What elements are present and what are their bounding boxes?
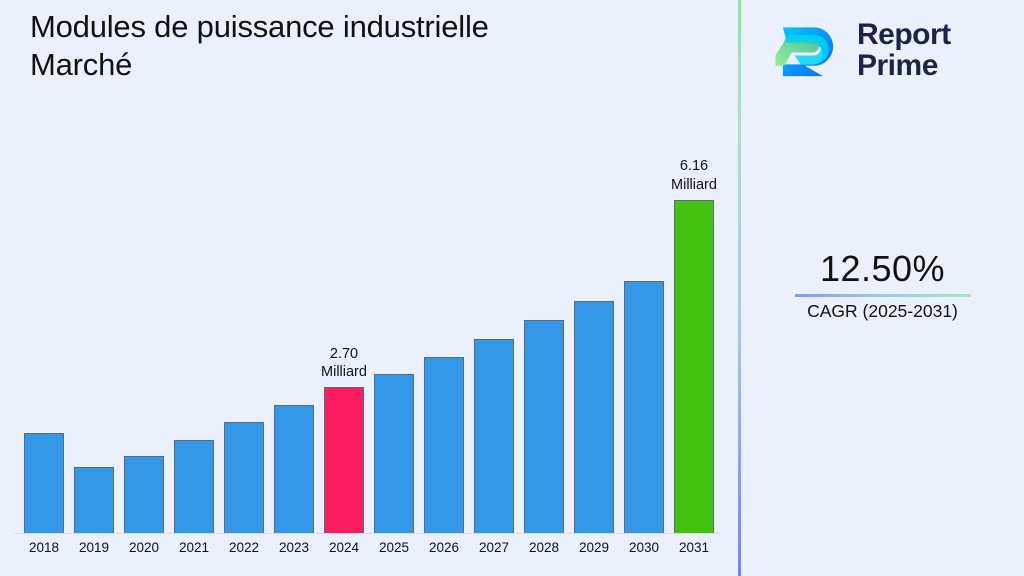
x-tick-2031: 2031 [669, 540, 719, 555]
brand-name: Report Prime [857, 20, 951, 82]
bar-2029[interactable] [574, 301, 614, 533]
report-prime-mark-icon [771, 14, 845, 88]
x-tick-2027: 2027 [469, 540, 519, 555]
plot-area: 2.70Milliard6.16Milliard [14, 120, 724, 533]
x-tick-2025: 2025 [369, 540, 419, 555]
bar-2028[interactable] [524, 320, 564, 533]
cagr-divider [795, 294, 971, 297]
x-tick-2024: 2024 [319, 540, 369, 555]
bar-slot [169, 120, 219, 533]
bar-slot [419, 120, 469, 533]
bar-2030[interactable] [624, 281, 664, 533]
bar-2025[interactable] [374, 374, 414, 533]
bar-slot [219, 120, 269, 533]
x-tick-2023: 2023 [269, 540, 319, 555]
cagr-caption: CAGR (2025-2031) [741, 301, 1024, 322]
bar-slot: 2.70Milliard [319, 120, 369, 533]
x-tick-2030: 2030 [619, 540, 669, 555]
bar-slot [69, 120, 119, 533]
bar-value-unit: Milliard [639, 176, 749, 194]
cagr-block: 12.50% CAGR (2025-2031) [741, 250, 1024, 322]
x-tick-2020: 2020 [119, 540, 169, 555]
x-tick-2028: 2028 [519, 540, 569, 555]
x-tick-2022: 2022 [219, 540, 269, 555]
bar-slot [269, 120, 319, 533]
x-axis-line [14, 533, 720, 534]
bar-value-label-2031: 6.16Milliard [639, 157, 749, 193]
bar-2020[interactable] [124, 456, 164, 533]
bar-2023[interactable] [274, 405, 314, 533]
x-tick-2029: 2029 [569, 540, 619, 555]
bar-2027[interactable] [474, 339, 514, 533]
bar-slot [519, 120, 569, 533]
brand-logo[interactable]: Report Prime [771, 14, 951, 88]
x-tick-2018: 2018 [19, 540, 69, 555]
bar-2026[interactable] [424, 357, 464, 533]
bar-value-number: 6.16 [639, 157, 749, 175]
brand-name-line1: Report [857, 18, 951, 51]
x-tick-2019: 2019 [69, 540, 119, 555]
x-tick-2026: 2026 [419, 540, 469, 555]
bar-2021[interactable] [174, 440, 214, 533]
bar-slot [469, 120, 519, 533]
bar-2031[interactable] [674, 200, 714, 533]
bar-slot [19, 120, 69, 533]
chart-panel: Modules de puissance industrielle Marché… [0, 0, 738, 576]
bar-2019[interactable] [74, 467, 114, 533]
x-tick-2021: 2021 [169, 540, 219, 555]
brand-name-line2: Prime [857, 49, 938, 82]
bar-slot: 6.16Milliard [669, 120, 719, 533]
summary-panel: Report Prime 12.50% CAGR (2025-2031) [741, 0, 1024, 576]
bar-slot [369, 120, 419, 533]
bar-slot [119, 120, 169, 533]
bar-chart: 2.70Milliard6.16Milliard 201820192020202… [0, 0, 738, 576]
bar-2024[interactable] [324, 387, 364, 533]
bar-2022[interactable] [224, 422, 264, 533]
cagr-value: 12.50% [741, 250, 1024, 288]
bar-2018[interactable] [24, 433, 64, 533]
bar-slot [569, 120, 619, 533]
